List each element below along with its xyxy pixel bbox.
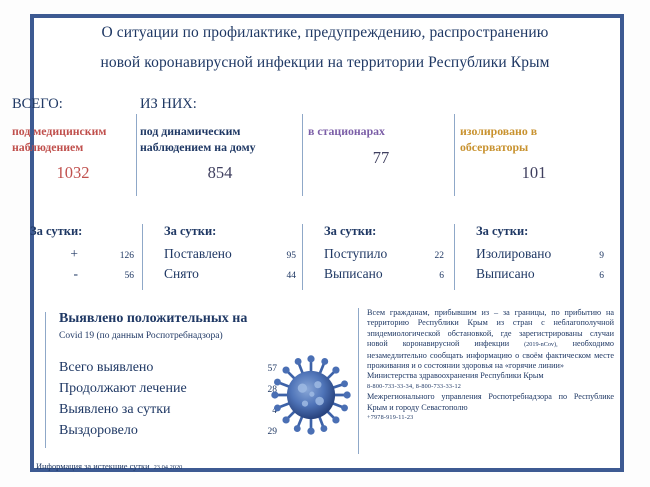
summary-column-home-observation: ИЗ НИХ: под динамическим наблюдением на … bbox=[140, 96, 300, 204]
summary-label-1: под динамическим наблюдением на дому bbox=[140, 124, 300, 155]
daily-divider-2 bbox=[302, 224, 303, 290]
positives-heading: Выявлено положительных на bbox=[59, 310, 345, 328]
daily-group-home: За сутки: Поставлено 95 Снято 44 bbox=[164, 224, 296, 285]
footer-date: 23.04.2020 bbox=[154, 464, 183, 471]
daily-label-3-0: Изолировано bbox=[476, 245, 551, 262]
notice-org-1: Министерства здравоохранения Республики … bbox=[367, 371, 614, 382]
page-title: О ситуации по профилактике, предупрежден… bbox=[0, 18, 650, 78]
daily-row: Выписано 6 bbox=[324, 265, 444, 285]
title-line-2: новой коронавирусной инфекции на террито… bbox=[0, 48, 650, 78]
list-item: Всего выявлено 57 bbox=[59, 358, 277, 379]
of-which-header: ИЗ НИХ: bbox=[140, 96, 300, 113]
summary-column-medical-observation: ВСЕГО: под медицинским наблюдением 1032 bbox=[12, 96, 134, 204]
summary-label-2: в стационарах bbox=[308, 124, 454, 140]
positives-label-2: Выявлено за сутки bbox=[59, 400, 171, 419]
summary-label-0: под медицинским наблюдением bbox=[12, 124, 134, 155]
daily-band: За сутки: + 126 - 56 За сутки: Поставлен… bbox=[8, 224, 644, 298]
positives-label-1: Продолжают лечение bbox=[59, 379, 187, 398]
daily-header-0: За сутки: bbox=[30, 224, 134, 239]
daily-row: Выписано 6 bbox=[476, 265, 604, 285]
summary-spacer-header-3 bbox=[308, 96, 454, 113]
daily-header-2: За сутки: bbox=[324, 224, 444, 239]
notice-org-2-phones: +7978-919-11-23 bbox=[367, 413, 614, 423]
summary-band: ВСЕГО: под медицинским наблюдением 1032 … bbox=[8, 96, 644, 204]
notice-org-1-phones: 8-800-733-33-34, 8-800-733-33-12 bbox=[367, 382, 614, 392]
daily-divider-3 bbox=[454, 224, 455, 290]
daily-row: Изолировано 9 bbox=[476, 245, 604, 265]
positives-label-3: Выздоровело bbox=[59, 421, 138, 440]
summary-value-2: 77 bbox=[308, 148, 454, 168]
positives-card-divider bbox=[45, 312, 46, 448]
coronavirus-icon bbox=[268, 352, 354, 438]
daily-label-2-0: Поступило bbox=[324, 245, 387, 262]
daily-value-3-1: 6 bbox=[591, 268, 604, 285]
title-line-1: О ситуации по профилактике, предупрежден… bbox=[102, 24, 549, 41]
summary-label-3: изолировано в обсерваторы bbox=[460, 124, 608, 155]
notice-org-2: Межрегионального управления Роспотребнад… bbox=[367, 392, 614, 413]
daily-row: Снято 44 bbox=[164, 265, 296, 285]
daily-group-observation: За сутки: + 126 - 56 bbox=[30, 224, 134, 285]
daily-header-3: За сутки: bbox=[476, 224, 604, 239]
footer: Информация за истекшие сутки23.04.2020 bbox=[36, 462, 182, 471]
daily-value-0-1: 56 bbox=[117, 268, 135, 285]
daily-label-1-0: Поставлено bbox=[164, 245, 232, 262]
daily-row: + 126 bbox=[30, 245, 134, 265]
positives-subheading: Covid 19 (по данным Роспотребнадзора) bbox=[59, 329, 345, 344]
notice-card-divider bbox=[358, 308, 359, 454]
daily-value-1-1: 44 bbox=[279, 268, 297, 285]
summary-value-1: 854 bbox=[140, 163, 300, 183]
daily-label-3-1: Выписано bbox=[476, 265, 535, 282]
daily-group-observatory: За сутки: Изолировано 9 Выписано 6 bbox=[476, 224, 604, 285]
daily-group-hospital: За сутки: Поступило 22 Выписано 6 bbox=[324, 224, 444, 285]
list-item: Выздоровело 29 bbox=[59, 421, 277, 442]
daily-value-3-0: 9 bbox=[591, 248, 604, 265]
summary-divider-1 bbox=[136, 114, 137, 196]
footer-text: Информация за истекшие сутки bbox=[36, 462, 150, 471]
daily-divider-1 bbox=[142, 224, 143, 290]
daily-label-0-0: + bbox=[64, 245, 78, 262]
list-item: Продолжают лечение 28 bbox=[59, 379, 277, 400]
daily-value-0-0: 126 bbox=[112, 248, 134, 265]
total-header: ВСЕГО: bbox=[12, 96, 134, 113]
daily-label-2-1: Выписано bbox=[324, 265, 383, 282]
daily-row: Поступило 22 bbox=[324, 245, 444, 265]
notice-virus-marker: (2019-nCov), bbox=[524, 341, 558, 348]
positives-label-0: Всего выявлено bbox=[59, 358, 153, 377]
daily-header-1: За сутки: bbox=[164, 224, 296, 239]
daily-label-1-1: Снято bbox=[164, 265, 199, 282]
list-item: Выявлено за сутки 4 bbox=[59, 400, 277, 421]
summary-column-hospitals: в стационарах 77 bbox=[308, 96, 454, 204]
summary-value-0: 1032 bbox=[12, 163, 134, 183]
daily-label-0-1: - bbox=[64, 265, 78, 282]
summary-divider-3 bbox=[454, 114, 455, 196]
summary-spacer-header-4 bbox=[460, 96, 608, 113]
daily-value-2-0: 22 bbox=[427, 248, 445, 265]
summary-column-observatories: изолировано в обсерваторы 101 bbox=[460, 96, 608, 204]
daily-value-1-0: 95 bbox=[279, 248, 297, 265]
summary-value-3: 101 bbox=[460, 163, 608, 183]
summary-divider-2 bbox=[302, 114, 303, 196]
notice-paragraph: Всем гражданам, прибывшим из – за границ… bbox=[367, 308, 614, 371]
infographic-page: О ситуации по профилактике, предупрежден… bbox=[0, 0, 650, 487]
daily-value-2-1: 6 bbox=[431, 268, 444, 285]
notice-card: Всем гражданам, прибывшим из – за границ… bbox=[358, 308, 614, 454]
daily-row: - 56 bbox=[30, 265, 134, 285]
daily-row: Поставлено 95 bbox=[164, 245, 296, 265]
